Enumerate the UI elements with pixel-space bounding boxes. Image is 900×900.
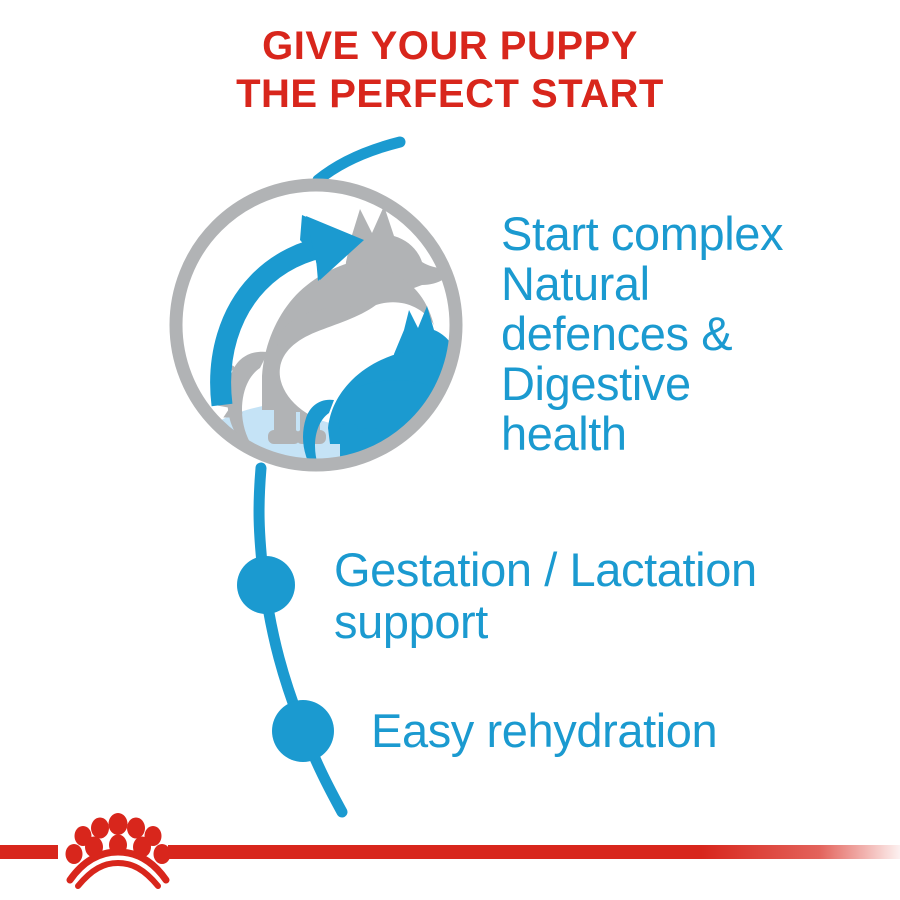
connector-dot-1 [237,556,295,614]
benefit-1-line-4: Digestive [501,359,783,409]
benefit-1-line-1: Start complex [501,209,783,259]
benefit-3-line-1: Easy rehydration [371,705,717,757]
benefit-2-line-2: support [334,596,757,648]
footer-rule-right [168,845,900,859]
royal-canin-crown-logo [66,813,171,886]
benefit-1-line-2: Natural [501,259,783,309]
benefit-label-start-complex-natural-defences-digestive-health: Start complex Natural defences & Digesti… [501,209,783,459]
circle-badge [176,185,486,504]
footer-brand-bar [0,813,900,886]
benefit-1-line-5: health [501,409,783,459]
benefit-2-line-1: Gestation / Lactation [334,544,757,596]
connector-dot-2 [272,700,334,762]
footer-rule-left [0,845,58,859]
benefit-1-line-3: defences & [501,309,783,359]
infographic-canvas: GIVE YOUR PUPPY THE PERFECT START [0,0,900,900]
benefit-label-easy-rehydration: Easy rehydration [371,705,717,757]
benefit-label-gestation-lactation-support: Gestation / Lactation support [334,544,757,648]
